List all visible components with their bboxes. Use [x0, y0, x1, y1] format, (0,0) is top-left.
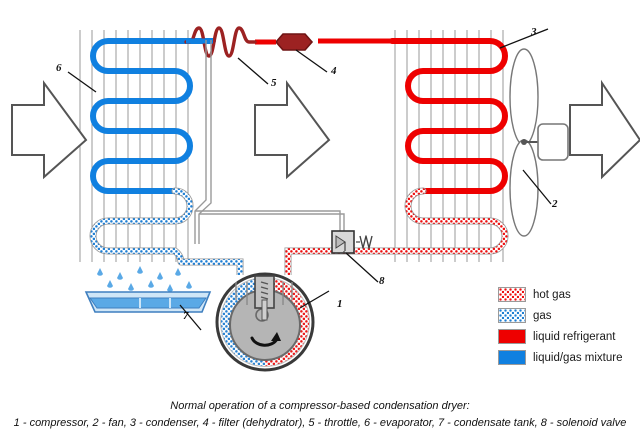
legend-label-gas: gas: [533, 310, 552, 322]
callout-7: 7: [183, 310, 189, 322]
callout-6: 6: [56, 62, 62, 74]
condenser-coil-hotgas-bottom: [300, 191, 505, 251]
discharge-line: [288, 251, 300, 275]
legend-swatch-liquid-gas-mixture: [498, 350, 526, 365]
callout-1: 1: [337, 298, 343, 310]
filter-dehydrator: [276, 34, 312, 50]
caption: Normal operation of a compressor-based c…: [0, 398, 640, 432]
callout-8: 8: [379, 275, 385, 287]
legend-swatch-gas: [498, 308, 526, 323]
callout-3: 3: [531, 26, 537, 38]
suction-line: [181, 262, 240, 275]
legend-swatch-liquid-refrigerant: [498, 329, 526, 344]
caption-parts-list: 1 - compressor, 2 - fan, 3 - condenser, …: [0, 415, 640, 432]
legend-item-liquid-refrigerant: liquid refrigerant: [498, 326, 638, 347]
condenser-coil-hotgas-top: [392, 41, 505, 191]
legend-swatch-hot-gas: [498, 287, 526, 302]
legend: hot gas gas liquid refrigerant liquid/ga…: [498, 284, 638, 368]
callout-2: 2: [552, 198, 558, 210]
diagram-canvas: 6 3 2 4 5 7 1 8 hot gas gas liquid refri…: [0, 0, 640, 444]
evaporator-coil-gas: [93, 191, 190, 262]
legend-label-liquid-refrigerant: liquid refrigerant: [533, 331, 615, 343]
condensate-droplets: [97, 266, 192, 292]
legend-item-gas: gas: [498, 305, 638, 326]
legend-item-liquid-gas-mixture: liquid/gas mixture: [498, 347, 638, 368]
compressor: [217, 274, 313, 370]
legend-label-hot-gas: hot gas: [533, 289, 571, 301]
solenoid-coil-icon: [356, 236, 372, 248]
dryer-schematic: [0, 0, 640, 444]
legend-label-liquid-gas-mixture: liquid/gas mixture: [533, 352, 622, 364]
callout-4: 4: [331, 65, 337, 77]
legend-item-hot-gas: hot gas: [498, 284, 638, 305]
solenoid-valve[interactable]: [332, 231, 354, 253]
evaporator-coil-liquid: [93, 41, 213, 191]
condenser-fins: [395, 30, 503, 262]
caption-title: Normal operation of a compressor-based c…: [0, 398, 640, 415]
airflow-arrow-middle: [255, 83, 329, 177]
condensate-tank: [86, 292, 210, 312]
airflow-arrow-inlet: [12, 83, 86, 177]
callout-5: 5: [271, 77, 277, 89]
airflow-arrow-outlet: [570, 83, 640, 177]
fan: [510, 49, 568, 236]
